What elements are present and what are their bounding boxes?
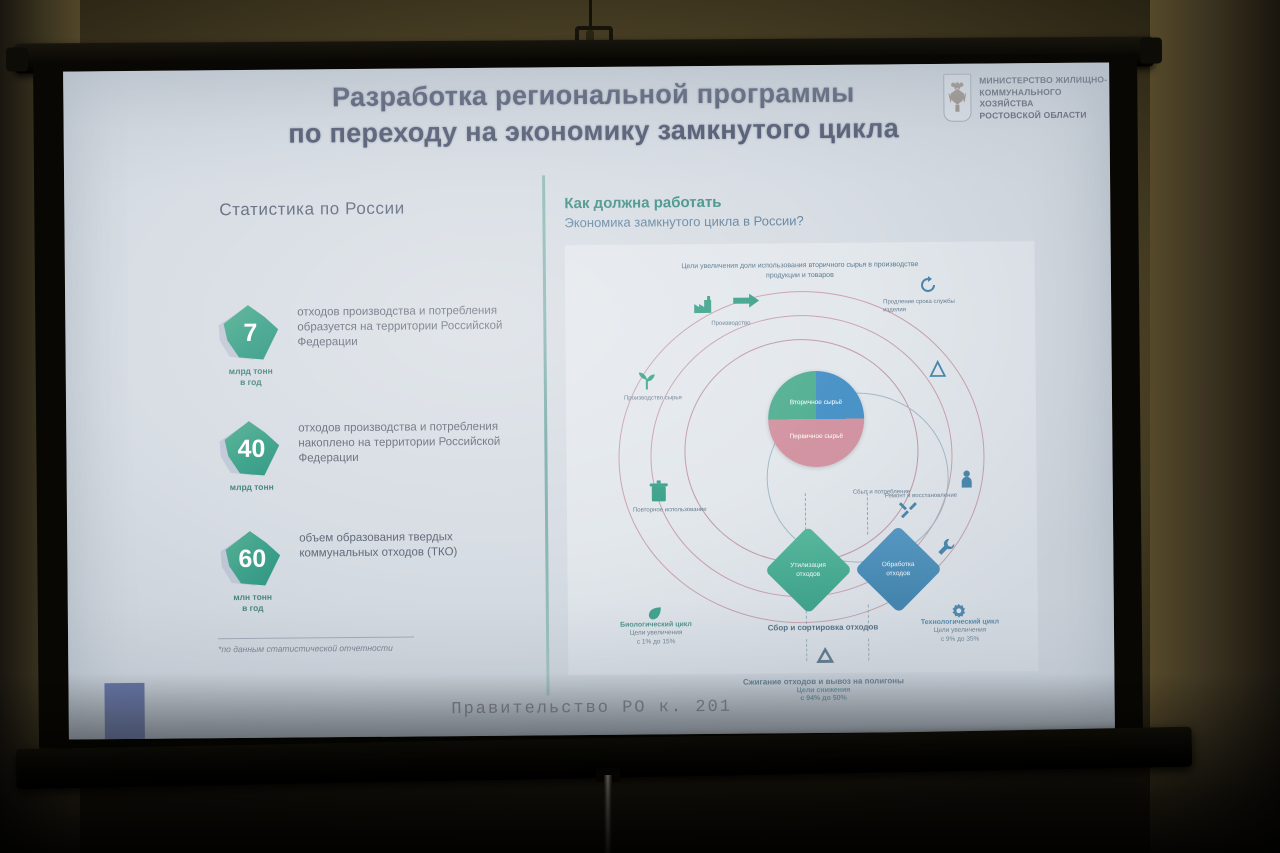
pie-label-primary: Первичное сырьё bbox=[768, 433, 864, 441]
footnote-text: *по данным статистической отчетности bbox=[218, 642, 448, 654]
leaf-icon bbox=[648, 606, 664, 620]
technological-cycle-label: Технологический цикл Цели увеличения с 9… bbox=[900, 603, 1020, 644]
gear-icon bbox=[952, 604, 968, 618]
arrow-right-icon bbox=[733, 294, 759, 308]
ministry-logo-line-3: РОСТОВСКОЙ ОБЛАСТИ bbox=[979, 109, 1111, 122]
circular-economy-diagram: Цели увеличения доли использования втори… bbox=[565, 241, 1039, 675]
repair-person-icon bbox=[959, 470, 975, 488]
raw-material-pie-chart: Вторичное сырьё Первичное сырьё bbox=[768, 371, 865, 468]
ring-note-3: Повторное использование bbox=[633, 506, 719, 515]
diamond-green-line-2: отходов bbox=[797, 570, 821, 577]
circular-arrow-icon bbox=[919, 276, 937, 294]
footnote-divider bbox=[218, 637, 414, 640]
presentation-slide: Разработка региональной программы по пер… bbox=[63, 62, 1115, 739]
statistics-footnote: *по данным статистической отчетности bbox=[218, 636, 448, 654]
ministry-logo-line-1: МИНИСТЕРСТВО ЖИЛИЩНО- bbox=[979, 74, 1111, 87]
stat-badge-icon-3: 60 bbox=[217, 528, 288, 595]
tools-icon bbox=[899, 500, 917, 518]
stat-value-2: 40 bbox=[222, 420, 281, 479]
stat-description-3: объем образования твердых коммунальных о… bbox=[299, 530, 527, 562]
ministry-logo: МИНИСТЕРСТВО ЖИЛИЩНО- КОММУНАЛЬНОГО ХОЗЯ… bbox=[943, 72, 1112, 135]
dashed-connector-right-3 bbox=[868, 639, 869, 661]
ministry-logo-line-2: КОММУНАЛЬНОГО ХОЗЯЙСТВА bbox=[979, 86, 1111, 110]
stat-unit-3: млн тоннв год bbox=[218, 592, 288, 615]
slide-title-line-2: по переходу на экономику замкнутого цикл… bbox=[234, 110, 954, 152]
right-panel-title: Как должна работать bbox=[564, 194, 721, 212]
right-panel-subtitle: Экономика замкнутого цикла в России? bbox=[564, 213, 803, 230]
slide-title: Разработка региональной программы по пер… bbox=[233, 74, 954, 152]
stat-value-3: 60 bbox=[223, 530, 282, 589]
floor-shadow bbox=[0, 673, 1280, 853]
wrench-icon bbox=[937, 538, 955, 556]
stat-card-2: 40 млрд тонн отходов производства и потр… bbox=[216, 416, 527, 505]
statistics-heading: Статистика по России bbox=[219, 199, 405, 221]
incineration-triangle-icon bbox=[816, 647, 834, 663]
column-divider bbox=[542, 175, 550, 695]
biological-cycle-goal-2: с 1% до 15% bbox=[596, 637, 716, 647]
diamond-blue-line-2: отходов bbox=[886, 569, 910, 576]
technological-cycle-goal-2: с 9% до 35% bbox=[900, 635, 1020, 645]
stat-unit-1: млрд тоннв год bbox=[216, 366, 286, 389]
stat-unit-2: млрд тонн bbox=[217, 482, 287, 494]
collection-sorting-label: Сбор и сортировка отходов bbox=[733, 622, 913, 633]
diagram-top-note: Цели увеличения доли использования втори… bbox=[675, 260, 925, 281]
ring-note-1: Производство bbox=[711, 319, 797, 328]
stat-card-3: 60 млн тоннв год объем образования тверд… bbox=[217, 526, 528, 615]
diamond-blue-line-1: Обработка bbox=[882, 561, 915, 568]
conference-room-scene: Разработка региональной программы по пер… bbox=[0, 0, 1280, 853]
stat-description-1: отходов производства и потребления образ… bbox=[297, 304, 525, 351]
biological-cycle-label: Биологический цикл Цели увеличения с 1% … bbox=[596, 606, 716, 647]
stat-badge-icon-1: 7 bbox=[215, 302, 286, 369]
stat-value-1: 7 bbox=[221, 304, 280, 363]
projector-screen-frame: Разработка региональной программы по пер… bbox=[33, 53, 1143, 749]
double-headed-eagle-coat-of-arms-icon bbox=[943, 74, 971, 122]
ring-note-6: Сбыт и потребление bbox=[853, 488, 923, 497]
plant-sprout-icon bbox=[636, 368, 658, 390]
waste-bin-icon bbox=[649, 480, 669, 502]
stat-card-1: 7 млрд тоннв год отходов производства и … bbox=[215, 300, 526, 389]
stat-description-2: отходов производства и потребления накоп… bbox=[298, 420, 526, 467]
projector-screen-surface: Разработка региональной программы по пер… bbox=[63, 62, 1115, 739]
dashed-connector-left-3 bbox=[806, 639, 807, 661]
ring-note-4: Продление срока службы изделия bbox=[883, 298, 979, 315]
stat-badge-icon-2: 40 bbox=[216, 418, 287, 485]
pie-label-secondary: Вторичное сырьё bbox=[768, 399, 864, 407]
ring-note-2: Производство сырья bbox=[624, 394, 710, 403]
recycling-triangle-icon bbox=[928, 360, 948, 380]
diamond-green-line-1: Утилизация bbox=[791, 561, 827, 568]
factory-icon bbox=[693, 296, 713, 314]
ministry-logo-text: МИНИСТЕРСТВО ЖИЛИЩНО- КОММУНАЛЬНОГО ХОЗЯ… bbox=[979, 72, 1111, 121]
